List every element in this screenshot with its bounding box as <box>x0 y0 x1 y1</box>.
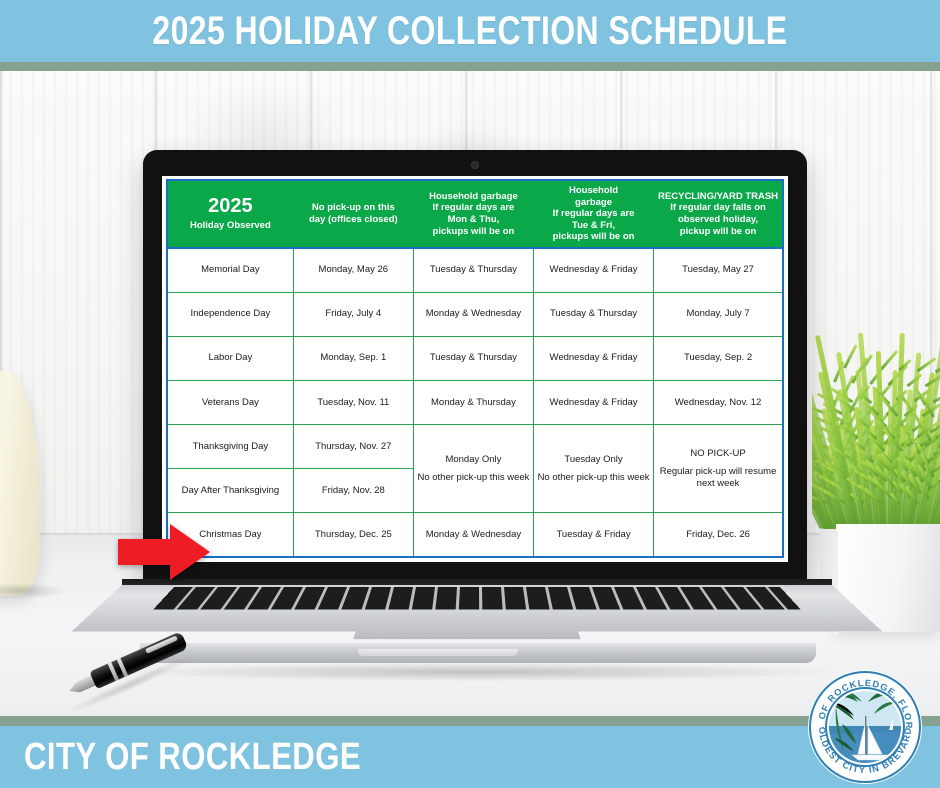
header-line: garbage <box>537 197 650 209</box>
laptop-lid: 2025 Holiday Observed No pick-up on this… <box>143 150 807 584</box>
cell-recycling: Monday, July 7 <box>654 292 783 336</box>
header-year: 2025 <box>171 196 290 217</box>
cell-no-pickup: Thursday, Nov. 27 <box>293 425 413 469</box>
cell-mon-thu-merged: Monday Only No other pick-up this week <box>413 425 533 513</box>
cell-no-pickup: Friday, July 4 <box>293 292 413 336</box>
cell-recycling: Tuesday, Sep. 2 <box>654 336 783 380</box>
cell-recycling: Tuesday, May 27 <box>654 248 783 292</box>
cell-no-pickup: Tuesday, Nov. 11 <box>293 380 413 424</box>
merged-line-2: No other pick-up this week <box>537 472 650 484</box>
header-line: No pick-up on this <box>297 202 410 214</box>
table-header-row: 2025 Holiday Observed No pick-up on this… <box>167 180 783 248</box>
table-row: Veterans Day Tuesday, Nov. 11 Monday & T… <box>167 380 783 424</box>
top-banner: 2025 HOLIDAY COLLECTION SCHEDULE <box>0 0 940 62</box>
header-line: If regular day falls on <box>657 202 779 214</box>
cell-tue-fri: Wednesday & Friday <box>533 380 653 424</box>
cell-holiday: Labor Day <box>167 336 293 380</box>
laptop-keyboard <box>153 587 800 609</box>
table-head: 2025 Holiday Observed No pick-up on this… <box>167 180 783 248</box>
bottom-divider-rule <box>0 716 940 726</box>
cell-tue-fri: Wednesday & Friday <box>533 248 653 292</box>
merged-line-2: Regular pick-up will resume next week <box>657 466 779 489</box>
merged-line-1: Monday Only <box>417 454 530 466</box>
column-header-holiday: 2025 Holiday Observed <box>167 180 293 248</box>
cell-tue-fri: Tuesday & Thursday <box>533 292 653 336</box>
cell-holiday: Day After Thanksgiving <box>167 469 293 513</box>
header-line: observed holiday, <box>657 214 779 226</box>
top-divider-rule <box>0 62 940 71</box>
bottom-banner: CITY OF ROCKLEDGE <box>0 726 940 788</box>
cell-recycling: Wednesday, Nov. 12 <box>654 380 783 424</box>
table-row: Independence Day Friday, July 4 Monday &… <box>167 292 783 336</box>
schedule-graphic: 2025 Holiday Observed No pick-up on this… <box>162 176 788 562</box>
cell-no-pickup: Thursday, Dec. 25 <box>293 513 413 557</box>
cell-holiday: Independence Day <box>167 292 293 336</box>
header-line: Tue & Fri, <box>537 220 650 232</box>
cell-holiday: Memorial Day <box>167 248 293 292</box>
column-header-no-pickup: No pick-up on this day (offices closed) <box>293 180 413 248</box>
header-line: pickups will be on <box>537 231 650 243</box>
holiday-collection-table: 2025 Holiday Observed No pick-up on this… <box>166 179 784 558</box>
table-row: Labor Day Monday, Sep. 1 Tuesday & Thurs… <box>167 336 783 380</box>
header-line: Household <box>537 185 650 197</box>
cell-tue-fri-merged: Tuesday Only No other pick-up this week <box>533 425 653 513</box>
city-seal-logo: CITY OF ROCKLEDGE, FLORIDA OLDEST CITY I… <box>806 668 924 786</box>
table-row: Memorial Day Monday, May 26 Tuesday & Th… <box>167 248 783 292</box>
header-line: RECYCLING/YARD TRASH <box>657 191 779 203</box>
cell-mon-thu: Monday & Wednesday <box>413 292 533 336</box>
cell-recycling-merged: NO PICK-UP Regular pick-up will resume n… <box>654 425 783 513</box>
header-line: pickup will be on <box>657 226 779 238</box>
header-line: Household garbage <box>417 191 530 203</box>
header-holiday-observed: Holiday Observed <box>171 220 290 232</box>
cell-recycling: Friday, Dec. 26 <box>654 513 783 557</box>
page-title: 2025 HOLIDAY COLLECTION SCHEDULE <box>152 9 787 54</box>
laptop-front-notch <box>358 649 518 656</box>
cell-no-pickup: Monday, Sep. 1 <box>293 336 413 380</box>
header-line: day (offices closed) <box>297 214 410 226</box>
cell-mon-thu: Monday & Thursday <box>413 380 533 424</box>
header-line: If regular days are <box>537 208 650 220</box>
column-header-recycling: RECYCLING/YARD TRASH If regular day fall… <box>654 180 783 248</box>
laptop-base <box>122 579 832 667</box>
cell-mon-thu: Tuesday & Thursday <box>413 336 533 380</box>
red-arrow-icon <box>118 523 210 581</box>
cell-no-pickup: Monday, May 26 <box>293 248 413 292</box>
cell-holiday: Veterans Day <box>167 380 293 424</box>
table-body: Memorial Day Monday, May 26 Tuesday & Th… <box>167 248 783 557</box>
column-header-mon-thu: Household garbage If regular days are Mo… <box>413 180 533 248</box>
cell-mon-thu: Monday & Wednesday <box>413 513 533 557</box>
header-line: Mon & Thu, <box>417 214 530 226</box>
laptop-screen: 2025 Holiday Observed No pick-up on this… <box>162 176 788 562</box>
cell-tue-fri: Wednesday & Friday <box>533 336 653 380</box>
cell-mon-thu: Tuesday & Thursday <box>413 248 533 292</box>
merged-line-1: NO PICK-UP <box>657 448 779 460</box>
table-row: Christmas Day Thursday, Dec. 25 Monday &… <box>167 513 783 557</box>
laptop-trackpad <box>353 625 580 639</box>
merged-line-2: No other pick-up this week <box>417 472 530 484</box>
webcam-icon <box>471 161 479 169</box>
merged-line-1: Tuesday Only <box>537 454 650 466</box>
city-name: CITY OF ROCKLEDGE <box>24 736 361 779</box>
cell-no-pickup: Friday, Nov. 28 <box>293 469 413 513</box>
header-line: pickups will be on <box>417 226 530 238</box>
cell-holiday: Thanksgiving Day <box>167 425 293 469</box>
photo-scene: 2025 Holiday Observed No pick-up on this… <box>0 71 940 716</box>
laptop: 2025 Holiday Observed No pick-up on this… <box>0 71 940 716</box>
header-line: If regular days are <box>417 202 530 214</box>
table-row: Thanksgiving Day Thursday, Nov. 27 Monda… <box>167 425 783 469</box>
column-header-tue-fri: Household garbage If regular days are Tu… <box>533 180 653 248</box>
cell-tue-fri: Tuesday & Friday <box>533 513 653 557</box>
